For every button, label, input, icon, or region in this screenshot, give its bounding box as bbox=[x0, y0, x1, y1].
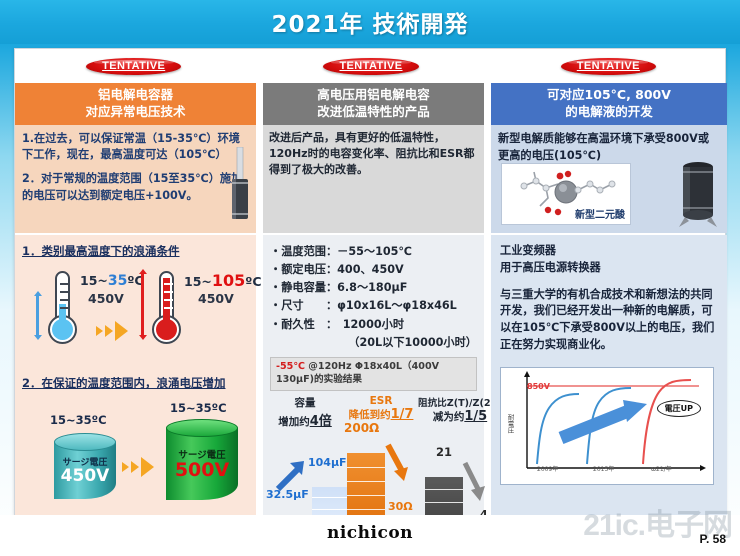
column-1-section-1-title: 1．类别最高温度下的浪涌条件 bbox=[22, 243, 249, 259]
metric-impedance-title: 阻抗比Z(T)/Z(20ºC) bbox=[418, 395, 502, 409]
column-1-section-2-title: 2．在保证的温度范围内，浪涌电压增加 bbox=[22, 375, 249, 391]
spec-item-2: ・静电容量：6.8～180μF bbox=[270, 279, 477, 297]
bar-value-impedance-before: 21 bbox=[436, 445, 452, 459]
column-1-intro-1: 1.在过去，可以保证常温（15-35℃）环境下工作，现在，最高温度可达（105℃… bbox=[22, 131, 249, 163]
thermometer-hot-temp: 15~105ºC bbox=[184, 271, 262, 290]
tentative-badge-row: TENTATIVE TENTATIVE TENTATIVE bbox=[15, 49, 727, 83]
content-card: TENTATIVE TENTATIVE TENTATIVE 铝电解电容器 对应异… bbox=[14, 48, 726, 515]
column-2: 改进后产品，具有更好的低温特性，120Hz时的电容变化率、阻抗比和ESR都得到了… bbox=[263, 125, 484, 516]
page-number: P. 58 bbox=[700, 532, 726, 546]
graph-threshold-label: 850V bbox=[527, 382, 550, 391]
cylinder-left-value: 450V bbox=[54, 466, 116, 486]
tentative-badge-1: TENTATIVE bbox=[86, 58, 181, 75]
thermometer-hot-icon bbox=[150, 271, 184, 347]
graph-annotation-badge: 電圧UP bbox=[657, 400, 701, 417]
molecule-caption: 新型二元酸 bbox=[575, 206, 625, 221]
column-3-detail-panel: 工业变频器 用于高压电源转换器 与三重大学的有机合成技术和新想法的共同开发，我们… bbox=[491, 235, 727, 516]
metric-impedance-pre: 减为约 bbox=[433, 411, 465, 423]
column-header-2-line1: 高电压用铝电解电容 bbox=[317, 87, 430, 104]
column-header-3-line2: 的电解液的开发 bbox=[565, 104, 653, 121]
column-header-2: 高电压用铝电解电容 改进低温特性的产品 bbox=[263, 83, 484, 125]
badge-cell-3: TENTATIVE bbox=[490, 49, 727, 83]
capacitor-photo-icon bbox=[230, 147, 250, 221]
graph-x-label-2: 2015年 bbox=[593, 464, 614, 473]
column-1-intro-panel: 1.在过去，可以保证常温（15-35℃）环境下工作，现在，最高温度可达（105℃… bbox=[15, 125, 256, 233]
column-header-3: 可对应105°C, 800V 的电解液的开发 bbox=[491, 83, 727, 125]
cylinder-left-temp: 15~35ºC bbox=[50, 413, 107, 427]
column-3-body: 与三重大学的有机合成技术和新想法的共同开发，我们已经开发出一种新的电解质，可以在… bbox=[500, 287, 718, 354]
column-header-2-line2: 改进低温特性的产品 bbox=[317, 104, 430, 121]
header-divider-2 bbox=[484, 83, 491, 125]
tentative-badge-3: TENTATIVE bbox=[561, 58, 656, 75]
spec-item-3: ・尺寸 ：φ10x16L～φ18x46L bbox=[270, 297, 477, 315]
bar-value-capacity-after: 104μF bbox=[308, 456, 347, 469]
spec-note: （20L以下10000小时） bbox=[270, 334, 477, 352]
column-header-1-line1: 铝电解电容器 bbox=[98, 87, 173, 104]
company-logo: nichicon bbox=[327, 523, 413, 543]
graph-x-label-3: ω21/年 bbox=[651, 464, 672, 473]
metric-impedance-factor: 1/5 bbox=[464, 409, 487, 424]
column-2-intro-panel: 改进后产品，具有更好的低温特性，120Hz时的电容变化率、阻抗比和ESR都得到了… bbox=[263, 125, 484, 233]
test-condition-temp: -55℃ bbox=[276, 361, 305, 372]
column-header-1-line2: 对应异常电压技术 bbox=[85, 104, 185, 121]
cylinder-right-temp: 15~35ºC bbox=[170, 401, 227, 415]
column-2-intro: 改进后产品，具有更好的低温特性，120Hz时的电容变化率、阻抗比和ESR都得到了… bbox=[269, 130, 478, 178]
thermometer-cold-temp: 15~35ºC bbox=[80, 273, 144, 289]
column-header-row: 铝电解电容器 对应异常电压技术 高电压用铝电解电容 改进低温特性的产品 可对应1… bbox=[15, 83, 727, 125]
footer: 21ic.电子网 nichicon P. 58 bbox=[0, 515, 740, 556]
column-divider-1 bbox=[256, 125, 263, 516]
capacitor-cylinder-before: サージ電圧 450V bbox=[54, 433, 116, 499]
metric-esr-title: ESR bbox=[344, 395, 418, 407]
title-banner: 2021年 技術開発 bbox=[0, 0, 740, 44]
thermometer-cold-voltage: 450V bbox=[88, 291, 124, 306]
column-header-3-line1: 可对应105°C, 800V bbox=[547, 87, 671, 104]
capacitor-cylinder-after: サージ電圧 500V bbox=[166, 419, 238, 501]
graph-x-label-1: 2009年 bbox=[537, 464, 558, 473]
progress-arrows-2-icon bbox=[122, 457, 154, 477]
metric-capacity-title: 容量 bbox=[268, 395, 342, 410]
thermometer-hot-voltage: 450V bbox=[198, 291, 234, 306]
column-3-use-line1: 工业变频器 bbox=[500, 243, 718, 260]
metric-esr-factor: 1/7 bbox=[391, 407, 414, 422]
column-3: 新型电解质能够在高温环境下承受800V或更高的电压(105℃) bbox=[491, 125, 727, 516]
thermometer-comparison: 15~35ºC 450V bbox=[22, 263, 249, 367]
spec-item-0: ・温度范围：－55～105℃ bbox=[270, 243, 477, 261]
capacitor-photo-large-icon bbox=[677, 159, 719, 229]
spec-item-4: ・耐久性 ： 12000小时 bbox=[270, 316, 477, 334]
trend-down-arrow-gray-icon bbox=[460, 459, 490, 503]
arrow-up-down-red-icon bbox=[141, 273, 144, 335]
badge-cell-2: TENTATIVE bbox=[252, 49, 489, 83]
metric-esr-pre: 降低到约 bbox=[349, 409, 391, 421]
column-3-intro-panel: 新型电解质能够在高温环境下承受800V或更高的电压(105℃) bbox=[491, 125, 727, 233]
test-condition-box: -55℃ @120Hz Φ18x40L（400V 130μF)的实验结果 bbox=[270, 357, 477, 391]
column-divider-2 bbox=[484, 125, 491, 516]
column-2-detail-panel: ・温度范围：－55～105℃ ・额定电压：400、450V ・静电容量：6.8～… bbox=[263, 235, 484, 516]
thermometer-cold-icon bbox=[46, 271, 80, 347]
metric-header-impedance: 阻抗比Z(T)/Z(20ºC) 减为约1/5 bbox=[418, 395, 502, 424]
badge-cell-1: TENTATIVE bbox=[15, 49, 252, 83]
voltage-trend-graph: 850V 耐電圧 2009年 2015年 ω21/年 電圧UP bbox=[500, 367, 714, 485]
metric-capacity-pre: 增加约 bbox=[278, 416, 310, 428]
molecule-image: 新型二元酸 bbox=[501, 163, 631, 225]
spec-item-1: ・额定电压：400、450V bbox=[270, 261, 477, 279]
arrow-up-down-blue-icon bbox=[36, 295, 39, 335]
column-1: 1.在过去，可以保证常温（15-35℃）环境下工作，现在，最高温度可达（105℃… bbox=[15, 125, 256, 516]
bar-value-esr-before: 200Ω bbox=[344, 421, 379, 435]
trend-down-arrow-orange-icon bbox=[382, 441, 414, 483]
column-1-detail-panel: 1．类别最高温度下的浪涌条件 bbox=[15, 235, 256, 516]
bar-value-esr-after: 30Ω bbox=[388, 500, 413, 513]
column-1-intro-2: 2．对于常规的温度范围（15至35℃）施加的电压可以达到额定电压+100V。 bbox=[22, 171, 249, 203]
graph-y-axis-label: 耐電圧 bbox=[505, 414, 515, 434]
page-title: 2021年 技術開発 bbox=[271, 5, 468, 39]
column-3-use-line2: 用于高压电源转换器 bbox=[500, 260, 718, 277]
tentative-badge-2: TENTATIVE bbox=[323, 58, 418, 75]
header-divider-1 bbox=[256, 83, 263, 125]
cylinder-right-value: 500V bbox=[166, 459, 238, 481]
column-header-1: 铝电解电容器 对应异常电压技术 bbox=[15, 83, 256, 125]
progress-arrows-icon bbox=[96, 321, 128, 341]
surge-voltage-comparison: 15~35ºC サージ電圧 450V 15~35ºC サージ電圧 bbox=[22, 395, 249, 513]
trend-up-arrow-icon bbox=[274, 459, 308, 493]
metric-header-esr: ESR 降低到约1/7 bbox=[344, 395, 418, 422]
column-body-row: 1.在过去，可以保证常温（15-35℃）环境下工作，现在，最高温度可达（105℃… bbox=[15, 125, 727, 516]
metric-capacity-factor: 4倍 bbox=[310, 414, 332, 429]
metric-header-capacity: 容量 增加约4倍 bbox=[268, 395, 342, 429]
